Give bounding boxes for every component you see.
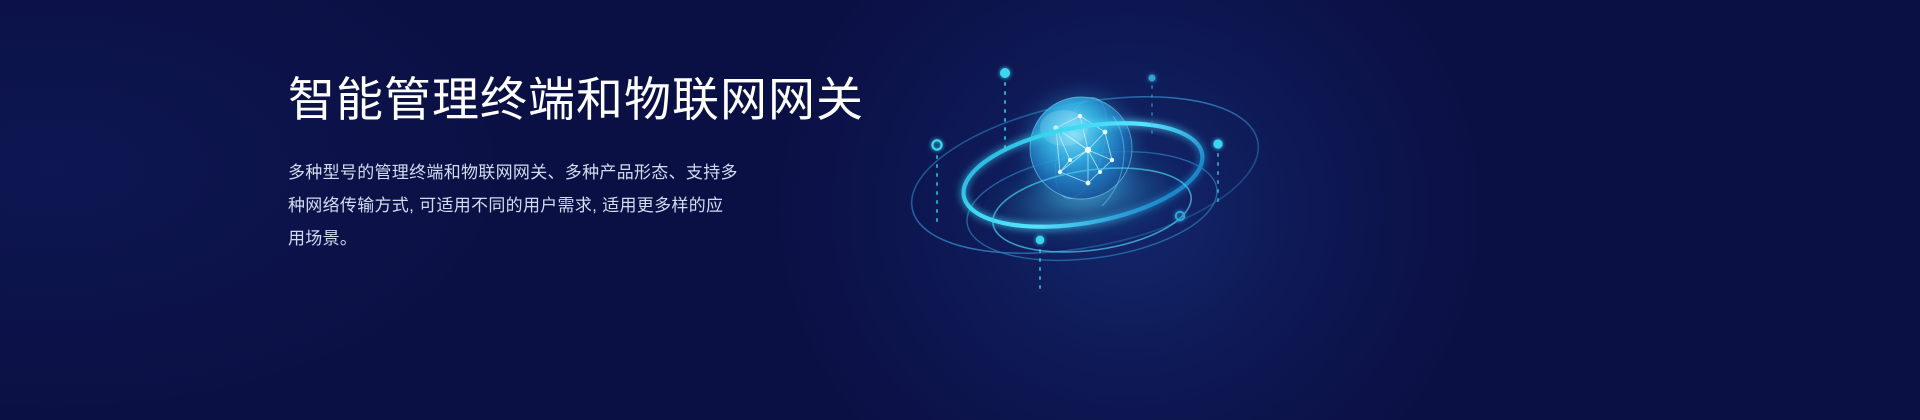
hero-description-line-3: 用场景。 [288, 222, 848, 255]
hero-text-block: 智能管理终端和物联网网关 多种型号的管理终端和物联网网关、多种产品形态、支持多 … [288, 72, 848, 255]
marker-dot-mid-right [1213, 139, 1222, 206]
hero-description-line-2: 种网络传输方式, 可适用不同的用户需求, 适用更多样的应 [288, 189, 848, 222]
network-globe [1030, 97, 1132, 199]
hero-banner: 智能管理终端和物联网网关 多种型号的管理终端和物联网网关、多种产品形态、支持多 … [0, 0, 1920, 420]
iot-globe-orbit-illustration [880, 20, 1300, 310]
hero-description-line-1: 多种型号的管理终端和物联网网关、多种产品形态、支持多 [288, 156, 848, 189]
marker-dot-mid-left [932, 140, 941, 225]
hero-description: 多种型号的管理终端和物联网网关、多种产品形态、支持多 种网络传输方式, 可适用不… [288, 128, 848, 255]
page-title: 智能管理终端和物联网网关 [288, 72, 848, 128]
